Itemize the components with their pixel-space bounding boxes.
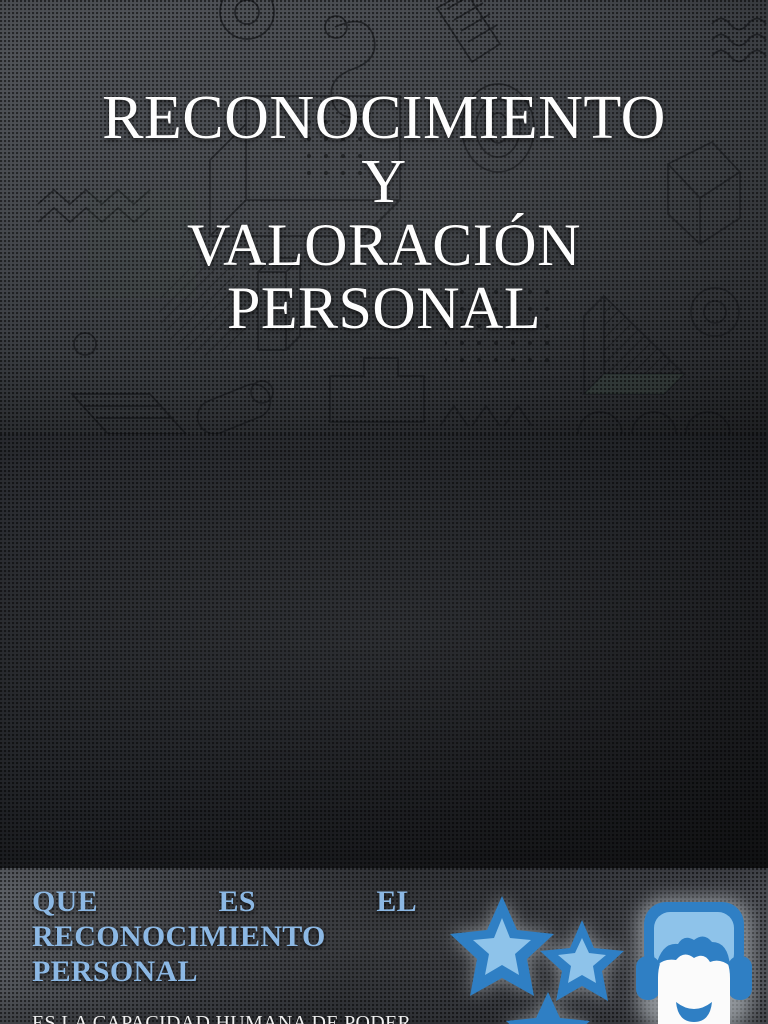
- content-body-line-1: ES LA CAPACIDAD HUMANA DE PODER: [32, 1012, 452, 1024]
- title-line-3: VALORACIÓN: [0, 214, 768, 276]
- presentation-document: RECONOCIMIENTO Y VALORACIÓN PERSONAL EST…: [0, 0, 768, 1024]
- stars-and-person-illustration: [430, 880, 760, 1024]
- content-heading-line-1: QUE ES EL: [32, 885, 417, 920]
- content-inner: QUE ES EL RECONOCIMIENTO PERSONAL ES LA …: [0, 868, 768, 1024]
- title-line-2: Y: [0, 150, 768, 214]
- slide-credits: ESTUDIANTES: YOVERA VELIZ JORGE ALBERTO.…: [0, 434, 768, 868]
- slide-content: QUE ES EL RECONOCIMIENTO PERSONAL ES LA …: [0, 868, 768, 1024]
- content-heading: QUE ES EL RECONOCIMIENTO PERSONAL: [32, 885, 417, 989]
- slide-title-text: RECONOCIMIENTO Y VALORACIÓN PERSONAL: [0, 86, 768, 340]
- title-line-1: RECONOCIMIENTO: [0, 86, 768, 150]
- slide-title: RECONOCIMIENTO Y VALORACIÓN PERSONAL: [0, 0, 768, 434]
- content-heading-line-2: RECONOCIMIENTO: [32, 920, 417, 955]
- content-heading-line-3: PERSONAL: [32, 955, 417, 990]
- credits-block: ESTUDIANTES: YOVERA VELIZ JORGE ALBERTO.…: [0, 434, 768, 868]
- title-line-4: PERSONAL: [0, 277, 768, 339]
